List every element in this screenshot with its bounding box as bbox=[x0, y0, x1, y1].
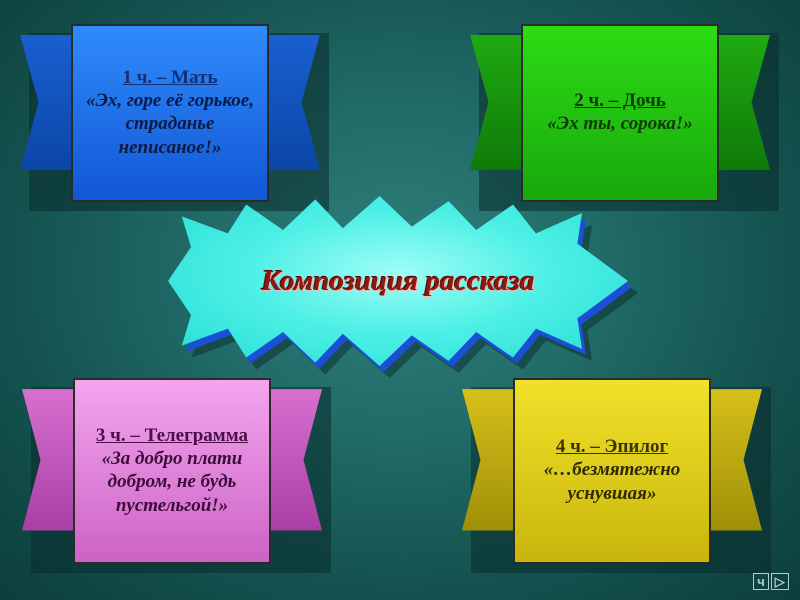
banner-ribbon: 3 ч. – Телеграмма «За добро плати добром… bbox=[22, 378, 322, 564]
banner-part-4: 4 ч. – Эпилог «…безмятежно уснувшая» bbox=[462, 378, 762, 564]
banner-quote: «…безмятежно уснувшая» bbox=[521, 458, 703, 505]
banner-quote: «Эх, горе её горькое, страданье неписано… bbox=[79, 89, 261, 160]
banner-title: 3 ч. – Телеграмма bbox=[96, 425, 248, 447]
banner-part-1: 1 ч. – Мать «Эх, горе её горькое, страда… bbox=[20, 24, 320, 202]
banner-ribbon: 4 ч. – Эпилог «…безмятежно уснувшая» bbox=[462, 378, 762, 564]
banner-title: 1 ч. – Мать bbox=[122, 67, 217, 89]
banner-quote: «Эх ты, сорока!» bbox=[547, 112, 693, 136]
logo-arrow-icon: ▷ bbox=[771, 573, 789, 590]
banner-ribbon: 1 ч. – Мать «Эх, горе её горькое, страда… bbox=[20, 24, 320, 202]
center-title: Композиция рассказа bbox=[168, 196, 628, 366]
banner-title: 2 ч. – Дочь bbox=[574, 90, 666, 112]
logo-letter: ч bbox=[753, 573, 769, 590]
banner-part-2: 2 ч. – Дочь «Эх ты, сорока!» bbox=[470, 24, 770, 202]
slide-canvas: 1 ч. – Мать «Эх, горе её горькое, страда… bbox=[0, 0, 800, 600]
center-starburst: Композиция рассказа bbox=[168, 196, 628, 366]
banner-plaque: 4 ч. – Эпилог «…безмятежно уснувшая» bbox=[513, 378, 711, 564]
banner-title: 4 ч. – Эпилог bbox=[556, 436, 668, 458]
banner-part-3: 3 ч. – Телеграмма «За добро плати добром… bbox=[22, 378, 322, 564]
banner-ribbon: 2 ч. – Дочь «Эх ты, сорока!» bbox=[470, 24, 770, 202]
corner-logo-icon: ч ▷ bbox=[750, 568, 792, 594]
banner-plaque: 1 ч. – Мать «Эх, горе её горькое, страда… bbox=[71, 24, 269, 202]
banner-plaque: 2 ч. – Дочь «Эх ты, сорока!» bbox=[521, 24, 719, 202]
banner-quote: «За добро плати добром, не будь пустельг… bbox=[81, 447, 263, 518]
banner-plaque: 3 ч. – Телеграмма «За добро плати добром… bbox=[73, 378, 271, 564]
